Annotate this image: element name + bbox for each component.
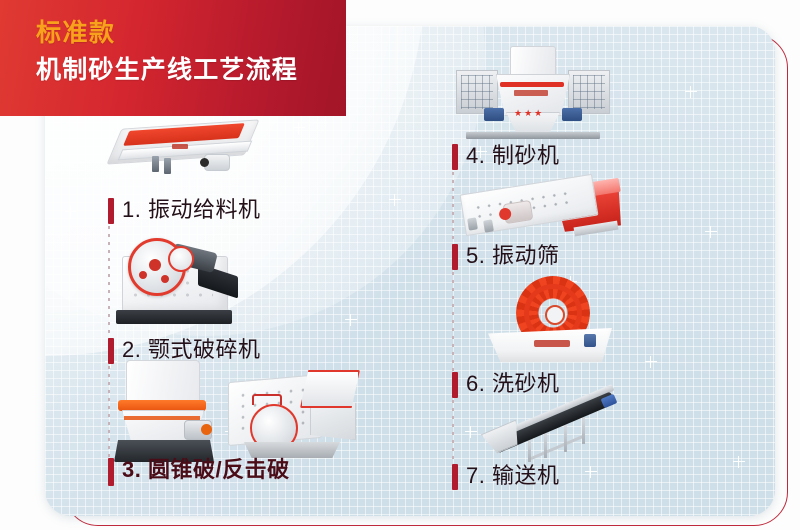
step-marker-bar	[108, 338, 114, 364]
sand-washer-illustration	[488, 278, 614, 362]
banner-subtitle: 标准款	[36, 21, 116, 46]
flow-connector-left-1	[108, 226, 110, 346]
flow-step-7-label: 7. 输送机	[466, 461, 559, 491]
title-banner: 标准款 机制砂生产线工艺流程	[0, 0, 346, 116]
flow-step-4-label: 4. 制砂机	[466, 141, 559, 171]
vibrating-screen-illustration	[462, 176, 630, 250]
step-marker-bar	[452, 464, 458, 490]
flow-connector-right-2	[452, 272, 454, 374]
flow-connector-right-3	[452, 400, 454, 464]
flow-step-2-label: 2. 颚式破碎机	[122, 335, 260, 365]
step-marker-bar	[452, 372, 458, 398]
vibrating-feeder-illustration	[108, 118, 258, 190]
infographic-stage: ★★★ 1. 振动给料机 2. 颚式破碎机 3. 圆锥破/反击破	[0, 0, 800, 530]
flow-connector-right-1	[452, 172, 454, 246]
step-marker-bar	[452, 144, 458, 170]
flow-connector-left-2	[108, 366, 110, 466]
banner-title: 机制砂生产线工艺流程	[36, 58, 298, 83]
step-marker-bar	[108, 198, 114, 224]
flow-step-3-label: 3. 圆锥破/反击破	[122, 455, 290, 485]
sand-maker-illustration: ★★★	[452, 46, 614, 142]
step-marker-bar	[108, 458, 114, 486]
jaw-crusher-illustration	[110, 222, 258, 332]
step-marker-bar	[452, 244, 458, 270]
cone-crusher-illustration	[112, 360, 222, 465]
flow-step-6-label: 6. 洗砂机	[466, 369, 559, 399]
impact-crusher-illustration	[222, 368, 362, 464]
flow-step-5-label: 5. 振动筛	[466, 241, 559, 271]
belt-conveyor-illustration	[484, 390, 634, 468]
flow-step-1-label: 1. 振动给料机	[122, 195, 260, 225]
